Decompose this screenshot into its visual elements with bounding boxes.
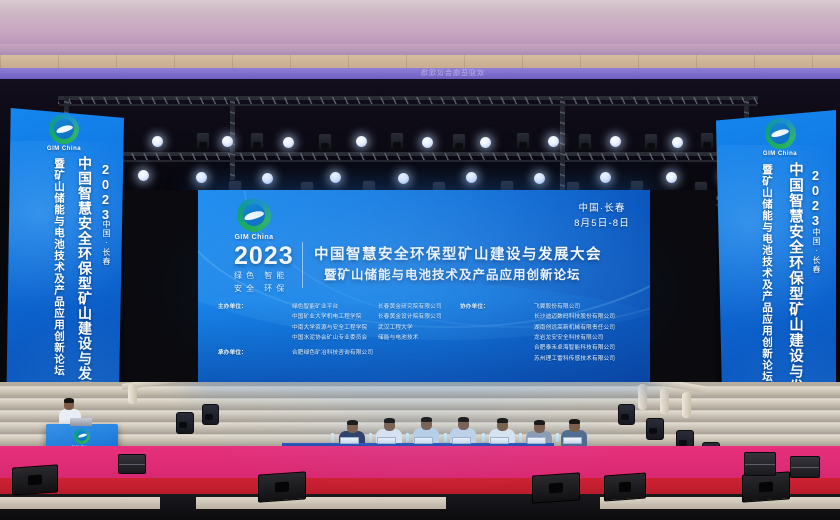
truss-beam-top — [58, 96, 758, 100]
moving-head-light — [390, 132, 404, 149]
gim-logo-wordmark: GIM China — [222, 234, 286, 241]
host-col2-item: 武汉工程大学 — [378, 323, 413, 333]
ceiling — [0, 0, 840, 48]
host-col2-item: 储能与电池技术 — [378, 333, 419, 343]
stage-lamp — [666, 172, 677, 183]
coorg-item: 合肥泰禾卓海智能科技有限公司 — [534, 343, 615, 353]
road-case — [744, 452, 776, 476]
baluster — [638, 384, 647, 410]
coorg-item: 湖南创远高新机械有限责任公司 — [534, 323, 615, 333]
floor-moving-head-light — [202, 404, 219, 425]
nameplate — [452, 437, 471, 444]
host-col1-item: 中南大学资源与安全工程学院 — [292, 323, 378, 333]
left-banner-location: 中国·长春 — [102, 220, 110, 266]
stage-lamp — [548, 136, 559, 147]
water-bottle — [444, 433, 447, 442]
moving-head-light — [700, 132, 714, 149]
moving-head-light — [644, 133, 658, 150]
right-banner-location: 中国·长春 — [812, 228, 820, 274]
stage-lamp — [330, 172, 341, 183]
host-col2-item: 长春黄金设计院有限公司 — [378, 312, 442, 322]
panelist-hair — [534, 420, 545, 425]
screen-year: 2023 — [234, 242, 294, 271]
stage-lamp — [138, 170, 149, 181]
organizer-label: 承办单位： — [218, 348, 292, 358]
panelist-hair — [384, 418, 395, 423]
stage-lamp — [398, 173, 409, 184]
moving-head-light — [516, 132, 530, 149]
moving-head-light — [452, 133, 466, 150]
led-ticker-text: 欢迎莅临会议现场 — [420, 68, 484, 78]
water-bottle — [369, 433, 372, 442]
front-stone-ledge — [0, 497, 160, 509]
main-led-screen: GIM China 中国·长春 8月5日-8日 2023 绿色 智能 安全 环保… — [198, 190, 650, 382]
host-col1-item: 中国矿业大学机电工程学院 — [292, 312, 378, 322]
conference-stage-photo: 欢迎莅临会议现场 — [0, 0, 840, 520]
right-banner-year: 2023 — [809, 168, 822, 228]
coorg-item: 苏州理工雷科传感技术有限公司 — [534, 354, 615, 364]
stage-lamp — [466, 172, 477, 183]
host-col2-item: 长春黄金研究院有限公司 — [378, 302, 442, 312]
stage-lamp — [222, 136, 233, 147]
stage-lamp — [422, 137, 433, 148]
screen-location-block: 中国·长春 8月5日-8日 — [574, 202, 630, 231]
screen-title-line2: 暨矿山储能与电池技术及产品应用创新论坛 — [324, 264, 581, 283]
gim-logo-wordmark: GIM China — [34, 146, 94, 152]
gim-logo-mark — [237, 198, 271, 232]
host-label: 主办单位： — [218, 302, 292, 312]
nameplate — [340, 437, 359, 444]
left-banner-logo: GIM China — [34, 114, 94, 152]
stage-monitor-speaker — [604, 473, 646, 502]
stage-lamp — [152, 136, 163, 147]
step — [0, 410, 840, 422]
gim-logo-mark — [49, 114, 79, 144]
nameplate — [377, 437, 396, 444]
coorg-item: 飞翼股份有限公司 — [534, 302, 580, 312]
left-banner-year: 2023 — [99, 162, 112, 222]
gim-logo-mark — [74, 428, 90, 444]
nameplate — [527, 437, 546, 444]
screen-dates: 8月5日-8日 — [574, 217, 630, 232]
speaker-hair — [64, 398, 74, 403]
sponsor-block-coorganizers: 协办单位：飞翼股份有限公司 长沙迪迈数码科技股份有限公司 湖南创远高新机械有限责… — [460, 302, 615, 364]
water-bottle — [406, 433, 409, 442]
moving-head-light — [578, 133, 592, 150]
sponsor-block-hosts: 主办单位：绿色智能矿业平台长春黄金研究院有限公司 中国矿业大学机电工程学院长春黄… — [218, 302, 442, 359]
nameplate — [414, 437, 433, 444]
screen-title-line1: 中国智慧安全环保型矿山建设与发展大会 — [314, 243, 602, 264]
water-bottle — [331, 433, 334, 442]
stage-lamp — [480, 137, 491, 148]
screen-left-shadow — [124, 190, 198, 382]
floor-moving-head-light — [646, 418, 664, 440]
stage-lamp — [283, 137, 294, 148]
front-stone-ledge — [196, 497, 446, 509]
left-banner-subtitle: 暨矿山储能与电池技术及产品应用创新论坛 — [53, 158, 64, 377]
organizer-name: 合肥绿色矿冶科技咨询有限公司 — [292, 348, 373, 358]
screen-divider — [302, 242, 303, 288]
coorg-label: 协办单位： — [460, 302, 534, 312]
right-banner-subtitle: 暨矿山储能与电池技术及产品应用创新论坛 — [761, 164, 772, 383]
stage-monitor-speaker — [258, 471, 306, 502]
truss-beam-mid — [62, 152, 752, 156]
led-ticker-strip: 欢迎莅临会议现场 — [0, 68, 840, 79]
moving-head-light — [250, 132, 264, 149]
stage-lamp — [262, 173, 273, 184]
screen-slogan-line1: 绿色 智能 — [234, 269, 288, 282]
moving-head-light — [196, 132, 210, 149]
coorg-item: 长沙迪迈数码科技股份有限公司 — [534, 312, 615, 322]
ceiling-stone-trim — [0, 55, 840, 69]
gim-logo-wordmark: GIM China — [750, 151, 810, 157]
road-case — [118, 454, 146, 474]
stage-lamp — [600, 172, 611, 183]
host-col1-item: 中国水泥协会矿山专业委员会 — [292, 333, 378, 343]
water-bottle — [556, 433, 559, 442]
baluster — [128, 384, 137, 404]
truss-column-mid-right — [560, 98, 565, 196]
panelist-hair — [421, 417, 432, 422]
right-banner-logo: GIM China — [750, 118, 810, 157]
host-col1-item: 绿色智能矿业平台 — [292, 302, 378, 312]
stage-monitor-speaker — [742, 471, 790, 502]
water-bottle — [519, 433, 522, 442]
gim-logo-mark — [765, 118, 796, 149]
step — [0, 398, 840, 410]
screen-right-shadow — [650, 190, 716, 382]
road-case — [790, 456, 820, 478]
nameplate — [563, 437, 582, 444]
panelist-hair — [569, 419, 580, 424]
screen-gim-logo: GIM China — [222, 198, 286, 241]
moving-head-light — [318, 133, 332, 150]
nameplate — [490, 437, 509, 444]
stage-monitor-speaker — [532, 472, 580, 503]
water-bottle — [482, 433, 485, 442]
stage-lamp — [672, 137, 683, 148]
stage-lamp — [356, 136, 367, 147]
podium-laptop — [70, 418, 92, 426]
stage-monitor-speaker — [12, 464, 58, 495]
baluster — [682, 392, 691, 418]
coorg-item: 龙岩龙安安全科技有限公司 — [534, 333, 604, 343]
floor-moving-head-light — [618, 404, 635, 425]
screen-location: 中国·长春 — [574, 202, 630, 217]
screen-slogan: 绿色 智能 安全 环保 — [234, 269, 288, 295]
floor-moving-head-light — [176, 412, 194, 434]
panelist-hair — [347, 420, 358, 425]
screen-slogan-line2: 安全 环保 — [234, 282, 288, 295]
baluster — [660, 388, 669, 414]
panelist-hair — [497, 418, 508, 423]
panelist-hair — [458, 417, 469, 422]
stage-lamp — [534, 173, 545, 184]
stage-lamp — [610, 136, 621, 147]
stage-lamp — [196, 172, 207, 183]
